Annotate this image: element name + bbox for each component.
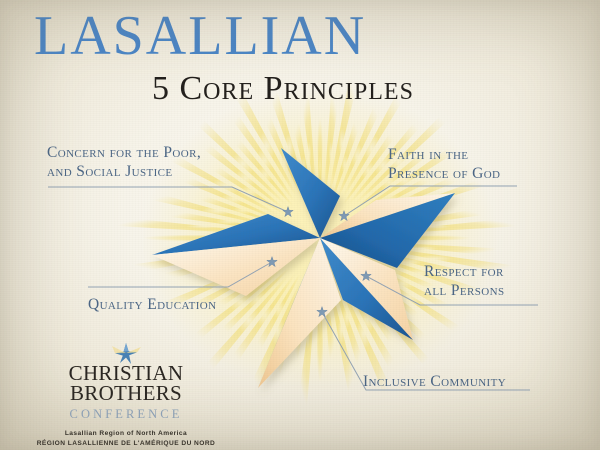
logo-region-french: RÉGION LASALLIENNE DE L'AMÉRIQUE DU NORD bbox=[36, 439, 216, 449]
leader-line-concern bbox=[48, 187, 288, 212]
star-marker-icon-faith bbox=[339, 211, 349, 221]
star-marker-icon-respect bbox=[361, 271, 371, 281]
star-marker-icon-quality bbox=[267, 257, 277, 267]
leader-line-quality bbox=[88, 262, 272, 287]
leader-line-faith bbox=[344, 186, 517, 216]
principle-label-quality: Quality Education bbox=[88, 296, 217, 315]
slide-canvas: Lasallian 5 Core Principles Concern for … bbox=[0, 0, 600, 450]
principle-label-respect: Respect for all Persons bbox=[424, 263, 504, 301]
logo-region-english: Lasallian Region of North America bbox=[36, 429, 216, 439]
logo-line-conference: Conference bbox=[36, 407, 216, 422]
principle-label-faith: Faith in the Presence of God bbox=[388, 146, 500, 184]
star-marker-icon-concern bbox=[283, 207, 293, 217]
principle-label-concern: Concern for the Poor, and Social Justice bbox=[47, 144, 201, 182]
page-title: Lasallian bbox=[34, 8, 600, 64]
star-marker-icon-inclusive bbox=[317, 307, 327, 317]
title-block: Lasallian 5 Core Principles bbox=[0, 8, 600, 106]
logo-line-brothers: Brothers bbox=[36, 384, 216, 404]
christian-brothers-conference-logo: Christian Brothers Conference Lasallian … bbox=[36, 340, 216, 449]
principle-label-inclusive: Inclusive Community bbox=[363, 373, 506, 392]
page-subtitle: 5 Core Principles bbox=[152, 72, 600, 106]
